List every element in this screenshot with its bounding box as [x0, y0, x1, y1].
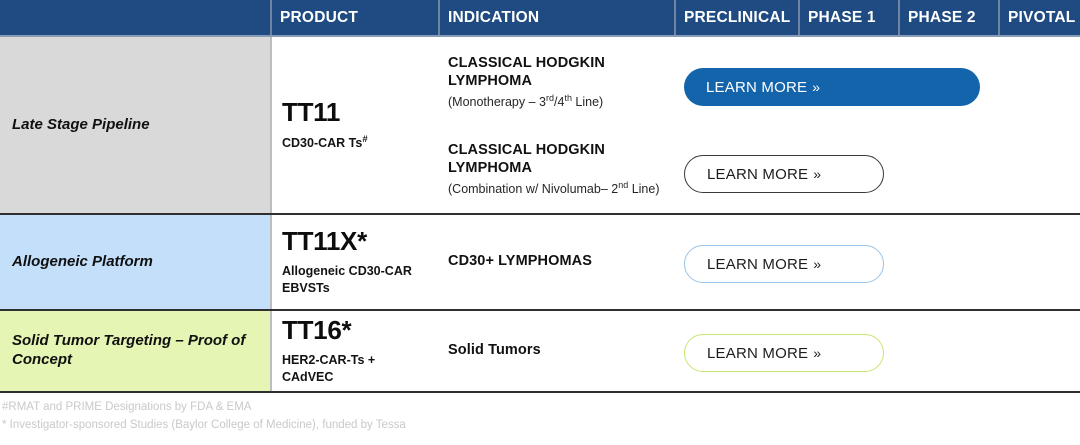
row-stage-area-solid-tumor: Solid Tumors LEARN MORE » [440, 311, 1080, 391]
column-header-preclinical: PRECLINICAL [676, 0, 800, 35]
indication-note-sup: nd [618, 180, 628, 190]
table-header-row: PRODUCT INDICATION PRECLINICAL PHASE 1 P… [0, 0, 1080, 37]
indication-block: Solid Tumors [448, 342, 688, 360]
indication-note-part: Line) [628, 183, 659, 197]
product-subtitle: CD30-CAR Ts# [282, 134, 430, 151]
learn-more-button-chl-combination[interactable]: LEARN MORE » [684, 155, 884, 193]
indication-note-part: (Combination w/ Nivolumab– 2 [448, 183, 618, 197]
product-subtitle: HER2-CAR-Ts + CAdVEC [282, 352, 430, 386]
indication-block: CLASSICAL HODGKIN LYMPHOMA (Combination … [448, 142, 688, 198]
column-header-category [0, 0, 272, 35]
learn-more-button-chl-monotherapy[interactable]: LEARN MORE » [684, 68, 980, 106]
row-category-solid-tumor-targeting: Solid Tumor Targeting – Proof of Concept [0, 311, 272, 391]
product-subtitle-superscript: # [362, 134, 367, 145]
chevron-right-icon: » [813, 345, 821, 361]
row-category-late-stage: Late Stage Pipeline [0, 37, 272, 213]
indication-title: Solid Tumors [448, 342, 688, 360]
table-row: Solid Tumor Targeting – Proof of Concept… [0, 311, 1080, 393]
column-header-phase-2: PHASE 2 [900, 0, 1000, 35]
footnote-investigator-sponsored: * Investigator-sponsored Studies (Baylor… [2, 417, 1080, 435]
product-subtitle-text: CD30-CAR Ts [282, 136, 362, 150]
footnote-rmat-prime: #RMAT and PRIME Designations by FDA & EM… [2, 399, 1080, 417]
indication-note-part: (Monotherapy – 3 [448, 96, 546, 110]
learn-more-label: LEARN MORE [707, 256, 808, 273]
chevron-right-icon: » [812, 79, 820, 95]
column-header-pivotal: PIVOTAL [1000, 0, 1080, 35]
indication-title: CLASSICAL HODGKIN LYMPHOMA [448, 55, 688, 90]
indication-note-sup: th [564, 93, 572, 103]
product-subtitle-text: Allogeneic CD30-CAR EBVSTs [282, 264, 412, 295]
column-header-indication: INDICATION [440, 0, 676, 35]
indication-note-part: /4 [554, 96, 564, 110]
indication-block: CD30+ LYMPHOMAS [448, 253, 688, 271]
product-subtitle: Allogeneic CD30-CAR EBVSTs [282, 263, 430, 297]
learn-more-button-cd30-lymphomas[interactable]: LEARN MORE » [684, 245, 884, 283]
indication-note: (Monotherapy – 3rd/4th Line) [448, 93, 688, 111]
learn-more-label: LEARN MORE [707, 345, 808, 362]
indication-note: (Combination w/ Nivolumab– 2nd Line) [448, 180, 688, 198]
footnotes: #RMAT and PRIME Designations by FDA & EM… [0, 393, 1080, 435]
column-header-phase-1: PHASE 1 [800, 0, 900, 35]
indication-block: CLASSICAL HODGKIN LYMPHOMA (Monotherapy … [448, 55, 688, 111]
learn-more-label: LEARN MORE [706, 79, 807, 96]
table-row: Allogeneic Platform TT11X* Allogeneic CD… [0, 215, 1080, 311]
indication-title: CLASSICAL HODGKIN LYMPHOMA [448, 142, 688, 177]
learn-more-label: LEARN MORE [707, 166, 808, 183]
row-product-cell-tt16: TT16* HER2-CAR-Ts + CAdVEC [272, 311, 440, 391]
table-row: Late Stage Pipeline TT11 CD30-CAR Ts# CL… [0, 37, 1080, 215]
indication-note-part: Line) [572, 96, 603, 110]
product-name: TT11X* [282, 228, 430, 255]
chevron-right-icon: » [813, 256, 821, 272]
row-product-cell-tt11x: TT11X* Allogeneic CD30-CAR EBVSTs [272, 215, 440, 309]
pipeline-table: PRODUCT INDICATION PRECLINICAL PHASE 1 P… [0, 0, 1080, 445]
indication-note-sup: rd [546, 93, 554, 103]
product-subtitle-text: HER2-CAR-Ts + CAdVEC [282, 353, 375, 384]
row-stage-area-allogeneic: CD30+ LYMPHOMAS LEARN MORE » [440, 215, 1080, 309]
indication-title: CD30+ LYMPHOMAS [448, 253, 688, 271]
row-stage-area-late-stage: CLASSICAL HODGKIN LYMPHOMA (Monotherapy … [440, 37, 1080, 213]
chevron-right-icon: » [813, 166, 821, 182]
row-product-cell-tt11: TT11 CD30-CAR Ts# [272, 37, 440, 213]
learn-more-button-solid-tumors[interactable]: LEARN MORE » [684, 334, 884, 372]
row-category-allogeneic-platform: Allogeneic Platform [0, 215, 272, 309]
product-name: TT11 [282, 99, 430, 126]
product-name: TT16* [282, 317, 430, 344]
column-header-product: PRODUCT [272, 0, 440, 35]
